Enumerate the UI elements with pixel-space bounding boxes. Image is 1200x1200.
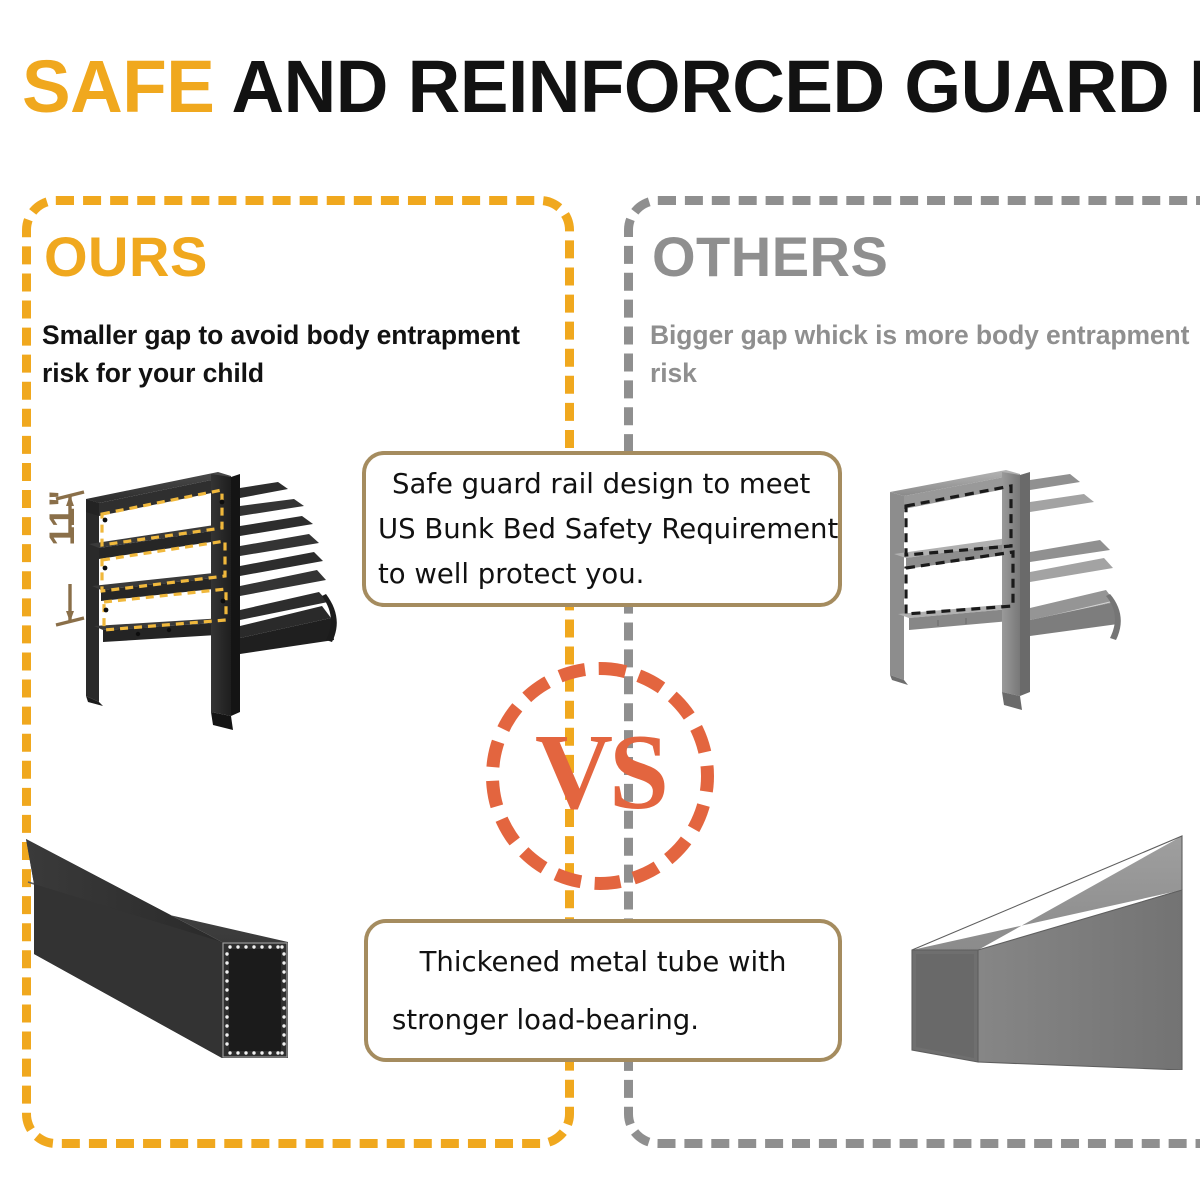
callout-safe-design: Safe guard rail design to meet US Bunk B…	[362, 451, 842, 607]
panel-others-heading: OTHERS	[652, 228, 888, 286]
square-metal-tube-thick-black-icon	[16, 826, 356, 1066]
vs-badge: VS	[486, 662, 714, 890]
callout-thickened-tube: Thickened metal tube with stronger load-…	[364, 919, 842, 1062]
callout-line: to well protect you.	[378, 552, 828, 597]
callout-line: US Bunk Bed Safety Requirement	[378, 507, 828, 552]
panel-ours-heading: OURS	[44, 228, 208, 286]
bunk-bed-guard-rail-gray-icon	[858, 454, 1188, 724]
dimension-label-11in: 11"	[45, 489, 80, 546]
square-metal-tube-thin-gray-icon	[900, 824, 1200, 1070]
bunk-bed-guard-rail-black-icon	[26, 444, 356, 734]
infographic-canvas: SAFE AND REINFORCED GUARD RAIL OURS Smal…	[0, 0, 1200, 1200]
callout-line: Safe guard rail design to meet	[378, 462, 828, 507]
page-title-highlight: SAFE	[22, 45, 214, 128]
page-title-rest: AND REINFORCED GUARD RAIL	[214, 45, 1200, 128]
callout-line: Thickened metal tube with	[378, 933, 828, 991]
panel-ours-description: Smaller gap to avoid body entrapment ris…	[42, 316, 562, 392]
callout-line: stronger load-bearing.	[378, 991, 828, 1049]
vs-label: VS	[486, 662, 714, 890]
panel-others-description: Bigger gap whick is more body entrapment…	[650, 316, 1190, 392]
page-title: SAFE AND REINFORCED GUARD RAIL	[22, 48, 1184, 126]
